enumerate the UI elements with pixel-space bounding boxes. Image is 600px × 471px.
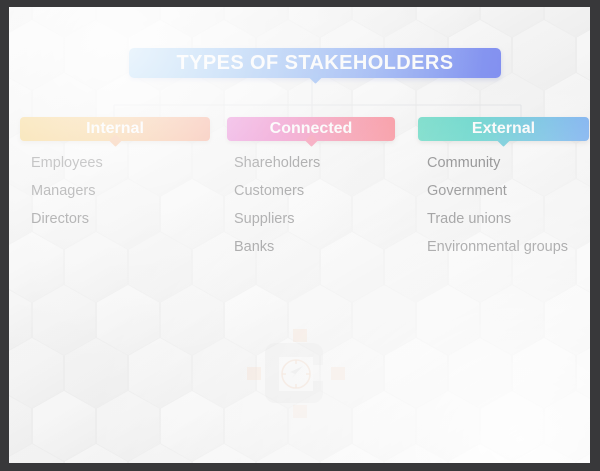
list-item: Government xyxy=(427,181,589,202)
column-connected: Connected Shareholders Customers Supplie… xyxy=(227,117,395,265)
list-internal: Employees Managers Directors xyxy=(20,153,210,230)
screenshot-frame: TYPES OF STAKEHOLDERS Internal Employees… xyxy=(0,0,600,471)
list-item: Community xyxy=(427,153,589,174)
list-item: Banks xyxy=(234,237,395,258)
list-item: Managers xyxy=(31,181,210,202)
column-header-internal: Internal xyxy=(20,117,210,141)
list-item: Suppliers xyxy=(234,209,395,230)
stakeholder-columns: Internal Employees Managers Directors Co… xyxy=(9,7,590,463)
list-item: Shareholders xyxy=(234,153,395,174)
slide-canvas: TYPES OF STAKEHOLDERS Internal Employees… xyxy=(9,7,590,463)
list-item: Trade unions xyxy=(427,209,589,230)
column-external: External Community Government Trade unio… xyxy=(418,117,589,265)
column-internal: Internal Employees Managers Directors xyxy=(20,117,210,237)
list-item: Employees xyxy=(31,153,210,174)
list-item: Directors xyxy=(31,209,210,230)
column-header-external: External xyxy=(418,117,589,141)
column-header-connected: Connected xyxy=(227,117,395,141)
list-connected: Shareholders Customers Suppliers Banks xyxy=(227,153,395,258)
list-item: Environmental groups xyxy=(427,237,589,258)
list-item: Customers xyxy=(234,181,395,202)
list-external: Community Government Trade unions Enviro… xyxy=(418,153,589,258)
